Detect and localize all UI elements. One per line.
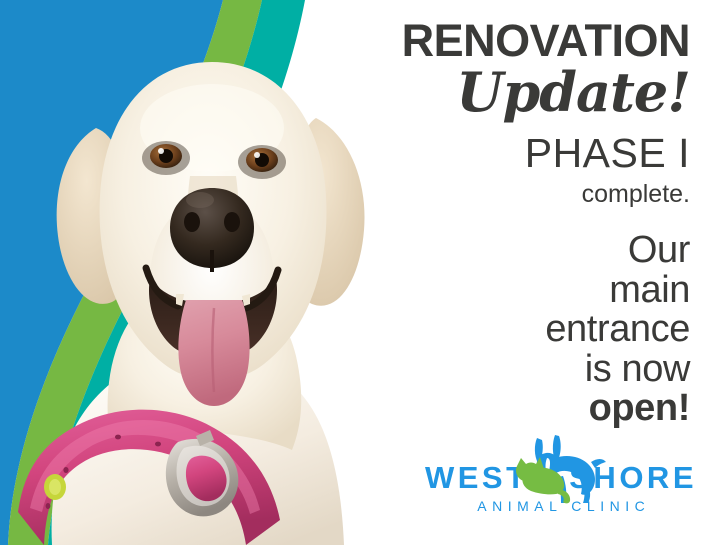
headline-update-script: Update! [270,63,690,119]
dog-collar-tag [44,474,66,500]
message-line-1: Our [270,231,690,271]
logo-tagline: ANIMAL CLINIC [425,498,697,514]
message-line-2: main [270,271,690,311]
dog-and-cat-logo-icon [511,432,607,504]
message-line-3: entrance [270,310,690,350]
copy-block: RENOVATION Update! PHASE I complete. Our… [270,0,690,429]
message-line-5: open! [270,389,690,429]
dog-left-eye [142,141,190,175]
phase-subtitle: complete. [270,174,690,207]
message-line-4: is now [270,350,690,390]
headline-renovation: RENOVATION [270,0,690,63]
west-shore-animal-clinic-logo: WEST SHORE [425,440,697,535]
phase-title: PHASE I [270,119,690,174]
message-block: Our main entrance is now open! [270,207,690,429]
renovation-update-poster: RENOVATION Update! PHASE I complete. Our… [0,0,720,545]
